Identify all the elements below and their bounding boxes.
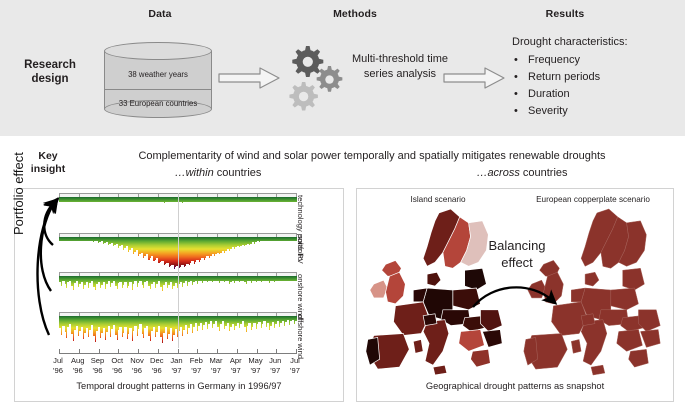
x-axis-tick xyxy=(79,349,80,354)
results-list: Drought characteristics: • Frequency • R… xyxy=(512,36,678,120)
key-insight-headline: Complementarity of wind and solar power … xyxy=(74,150,670,162)
timeseries-chart-area: technology portfoliosolar PVonshore wind… xyxy=(59,193,297,348)
subhead-across-italic: …across xyxy=(476,167,519,179)
map-country-bulgaria xyxy=(482,330,502,348)
bullet-icon: • xyxy=(514,103,518,120)
x-axis-tick xyxy=(178,349,179,354)
map-country-ireland xyxy=(370,280,388,298)
column-heading-results: Results xyxy=(500,8,630,20)
geographical-drought-panel: Island scenario European copperplate sce… xyxy=(356,188,674,402)
figure-root: Data Methods Results Research design 38 … xyxy=(0,0,685,413)
research-design-label-line2: design xyxy=(6,72,94,86)
left-panel-caption: Temporal drought patterns in Germany in … xyxy=(15,381,343,391)
results-item-duration: • Duration xyxy=(512,86,678,103)
portfolio-effect-label: Portfolio effect xyxy=(11,115,26,235)
x-axis-tick xyxy=(296,349,297,354)
balancing-effect-label: Balancing effect xyxy=(475,237,559,271)
map-country-greece xyxy=(471,349,491,367)
results-title: Drought characteristics: xyxy=(512,36,678,48)
balancing-effect-line2: effect xyxy=(475,254,559,271)
x-axis-tick xyxy=(158,349,159,354)
right-panel-caption: Geographical drought patterns as snapsho… xyxy=(357,381,673,391)
x-axis-tick xyxy=(276,349,277,354)
map-country-sicily xyxy=(591,365,605,375)
x-axis-tick xyxy=(138,349,139,354)
results-item-severity: • Severity xyxy=(512,103,678,120)
series-label-offshore-wind: offshore wind xyxy=(296,314,305,359)
map-country-sicily xyxy=(433,365,447,375)
x-axis-tick xyxy=(197,349,198,354)
x-axis-tick xyxy=(257,349,258,354)
methods-description: Multi-threshold time series analysis xyxy=(340,52,460,82)
results-item-label: Frequency xyxy=(528,54,580,66)
subhead-within-italic: …within xyxy=(175,167,214,179)
map-country-bulgaria xyxy=(640,330,660,348)
map-country-switzerland xyxy=(581,314,595,326)
research-design-label-line1: Research xyxy=(6,58,94,72)
map-country-balkans xyxy=(459,330,485,352)
database-top-ellipse xyxy=(104,42,212,60)
map-country-baltics xyxy=(623,268,645,290)
results-item-label: Return periods xyxy=(528,71,600,83)
x-axis-tick xyxy=(59,349,60,354)
map-country-sardinia xyxy=(571,339,581,353)
x-tick-year: '97 xyxy=(282,366,308,376)
map-country-sardinia xyxy=(413,339,423,353)
block-arrow-right-icon-1 xyxy=(218,66,280,90)
x-axis-tick-labels: Jul'96Aug'96Sep'96Oct'96Nov'96Dec'96Jan'… xyxy=(45,356,311,382)
x-axis-tick xyxy=(217,349,218,354)
map-country-denmark xyxy=(585,272,599,286)
map-country-italy xyxy=(423,320,449,365)
map-country-poland xyxy=(611,288,639,310)
balancing-effect-line1: Balancing xyxy=(475,237,559,254)
results-item-label: Severity xyxy=(528,105,568,117)
x-tick-month: Jul xyxy=(282,356,308,366)
key-insight-subhead-across: …across countries xyxy=(372,167,672,179)
bullet-icon: • xyxy=(514,52,518,69)
map-country-italy xyxy=(581,320,607,365)
map-country-switzerland xyxy=(423,314,437,326)
x-axis-tick xyxy=(99,349,100,354)
temporal-drought-panel: Portfolio effect technology portfoliosol… xyxy=(14,188,344,402)
research-design-row-label: Research design xyxy=(6,58,94,86)
x-axis-tick xyxy=(118,349,119,354)
column-heading-data: Data xyxy=(95,8,225,20)
research-design-band: Data Methods Results Research design 38 … xyxy=(0,0,685,137)
column-heading-methods: Methods xyxy=(290,8,420,20)
reference-line xyxy=(178,193,179,348)
map-country-greece xyxy=(629,349,649,367)
bullet-icon: • xyxy=(514,69,518,86)
x-tick-label: Jul'97 xyxy=(282,356,308,375)
series-label-solar-PV: solar PV xyxy=(296,235,305,264)
subhead-across-rest: countries xyxy=(520,167,568,179)
curved-arrow-right-icon xyxy=(469,281,565,315)
results-item-frequency: • Frequency xyxy=(512,52,678,69)
map-country-balkans xyxy=(617,330,643,352)
subhead-within-rest: countries xyxy=(214,167,262,179)
band-mask xyxy=(171,265,173,269)
results-item-return-periods: • Return periods xyxy=(512,69,678,86)
bullet-icon: • xyxy=(514,86,518,103)
x-axis-tick xyxy=(237,349,238,354)
key-insight-subhead-within: …within countries xyxy=(74,167,362,179)
database-cylinder-icon: 38 weather years 33 European countries xyxy=(104,42,214,118)
series-label-onshore-wind: onshore wind xyxy=(296,274,305,319)
x-axis xyxy=(59,349,297,354)
database-label-countries: 33 European countries xyxy=(104,99,212,108)
block-arrow-right-icon-2 xyxy=(443,66,505,90)
map-country-uk xyxy=(386,272,406,304)
database-label-weather-years: 38 weather years xyxy=(104,70,212,79)
results-item-label: Duration xyxy=(528,88,570,100)
map-title-copperplate-scenario: European copperplate scenario xyxy=(517,195,669,204)
map-title-island-scenario: Island scenario xyxy=(363,195,513,204)
map-country-denmark xyxy=(427,272,441,286)
